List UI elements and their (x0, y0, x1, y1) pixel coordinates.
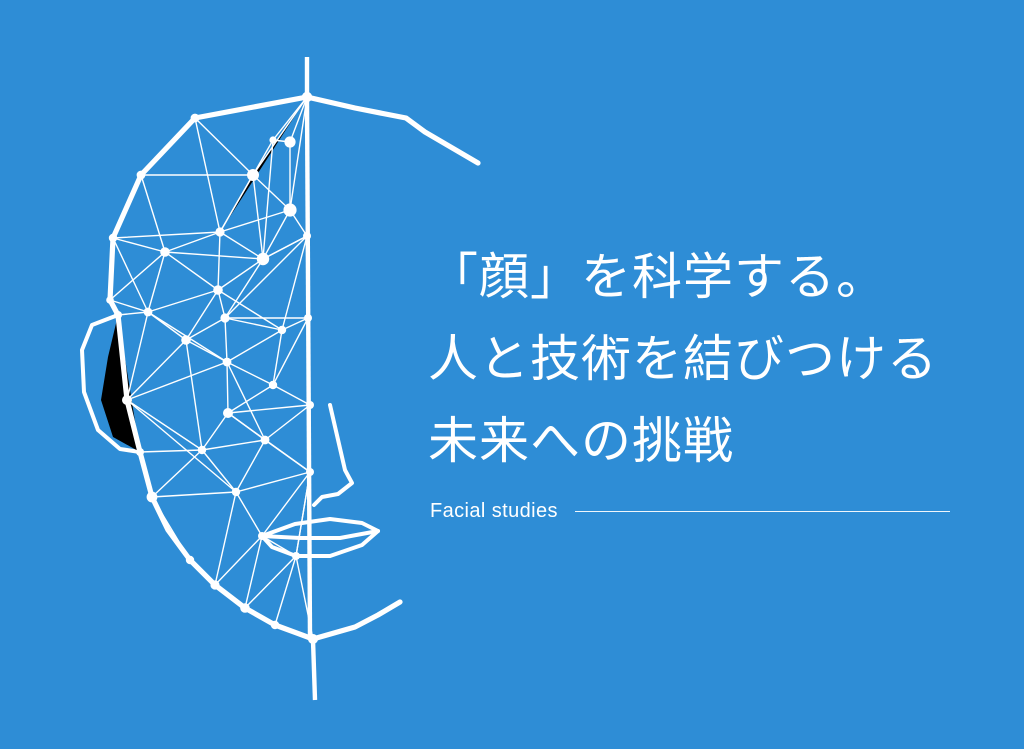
headline-line-3: 未来への挑戦 (428, 400, 988, 482)
centre-axis-group (307, 57, 315, 700)
subtitle-row: Facial studies (430, 500, 950, 523)
wireframe-face-illustration (0, 0, 500, 749)
headline-line-1: 「顔」を科学する。 (428, 236, 988, 318)
subtitle-label: Facial studies (430, 500, 558, 523)
mesh-structural-edges (127, 97, 313, 639)
headline-block: 「顔」を科学する。 人と技術を結びつける 未来への挑戦 (428, 236, 988, 482)
headline-line-2: 人と技術を結びつける (428, 318, 988, 400)
lips-shape (262, 519, 378, 556)
poster-canvas: 「顔」を科学する。 人と技術を結びつける 未来への挑戦 Facial studi… (0, 0, 1024, 749)
subtitle-divider-rule (575, 511, 950, 512)
nose-profile (314, 405, 352, 505)
